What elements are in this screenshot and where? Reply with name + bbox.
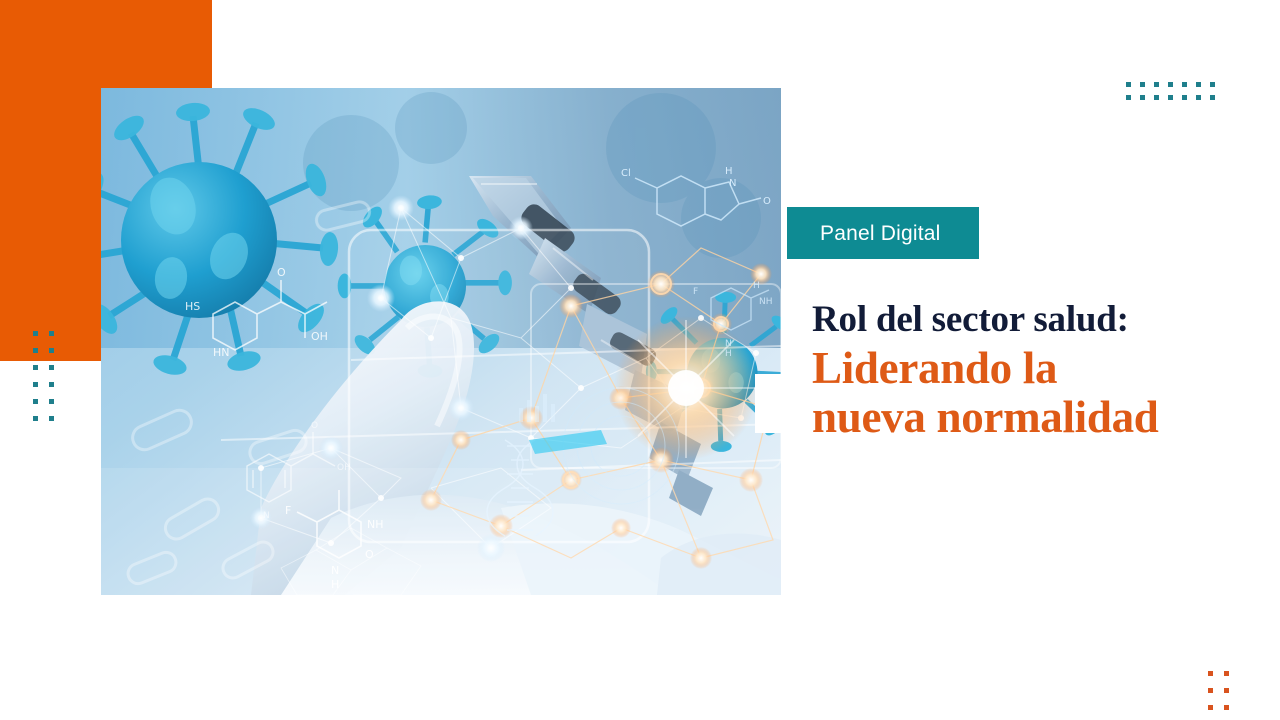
svg-text:H: H — [725, 349, 732, 359]
svg-text:Cl: Cl — [621, 168, 631, 179]
headline-line-2: Liderando la — [812, 344, 1262, 393]
panel-digital-tag: Panel Digital — [787, 207, 979, 259]
dot — [33, 365, 38, 370]
dot — [1196, 82, 1201, 87]
dot — [49, 416, 54, 421]
footer-sponsors: INVITAN: SIEMENS Healthineers — [0, 620, 1280, 710]
svg-text:O: O — [277, 266, 286, 279]
dot — [33, 382, 38, 387]
svg-text:N: N — [729, 178, 736, 189]
svg-text:HS: HS — [185, 300, 200, 313]
dot — [33, 416, 38, 421]
svg-text:H: H — [725, 166, 733, 177]
dot — [49, 382, 54, 387]
dot — [1196, 95, 1201, 100]
dot — [49, 399, 54, 404]
dot — [49, 348, 54, 353]
dot — [49, 365, 54, 370]
dot — [1126, 82, 1131, 87]
dot — [1182, 82, 1187, 87]
dot — [33, 399, 38, 404]
page-title: Rol del sector salud: Liderando la nueva… — [812, 300, 1262, 441]
dot — [1168, 95, 1173, 100]
dot-grid-left — [33, 331, 65, 433]
dot — [49, 331, 54, 336]
dot — [1210, 82, 1215, 87]
svg-text:HN: HN — [213, 346, 230, 359]
dot-grid-top-right — [1126, 82, 1224, 108]
svg-text:NH: NH — [759, 297, 773, 307]
dot — [1140, 82, 1145, 87]
hero-image: HS HN OH O O OH N — [101, 88, 781, 595]
dot — [1140, 95, 1145, 100]
dot — [1154, 82, 1159, 87]
svg-text:OH: OH — [311, 330, 328, 343]
svg-text:F: F — [693, 287, 698, 297]
dot — [1126, 95, 1131, 100]
dot — [1168, 82, 1173, 87]
dot — [1210, 95, 1215, 100]
dot — [1182, 95, 1187, 100]
headline-line-3: nueva normalidad — [812, 393, 1262, 442]
hero-white-notch — [755, 374, 782, 433]
svg-text:O: O — [763, 196, 771, 207]
dot — [33, 348, 38, 353]
panel-digital-label: Panel Digital — [787, 223, 941, 244]
slide-canvas: HS HN OH O O OH N — [0, 0, 1280, 720]
dot — [1154, 95, 1159, 100]
dot — [33, 331, 38, 336]
headline-line-1: Rol del sector salud: — [812, 300, 1262, 340]
svg-text:O: O — [311, 421, 318, 431]
svg-text:N: N — [725, 339, 732, 349]
svg-text:H: H — [753, 281, 760, 291]
